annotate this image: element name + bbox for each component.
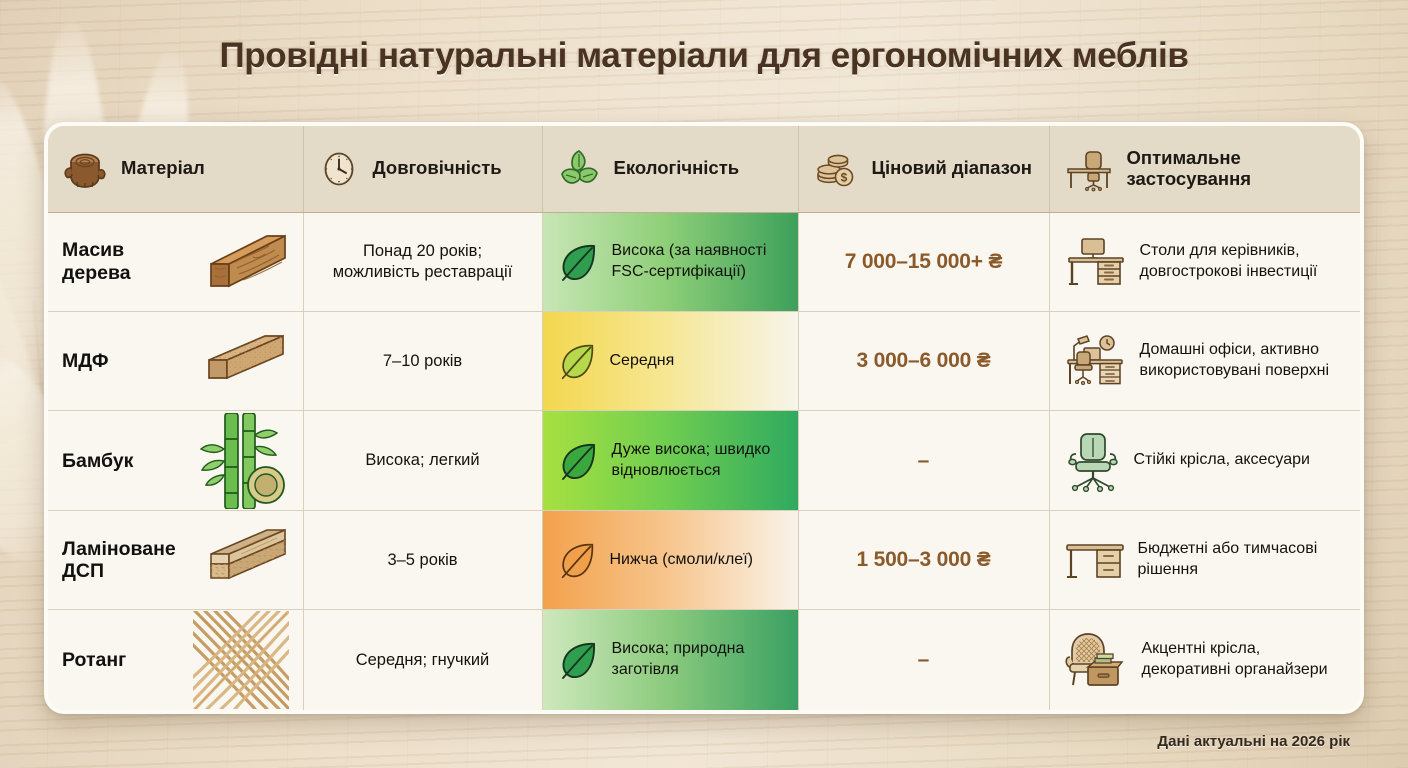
column-header-eco: Екологічність: [542, 126, 798, 212]
cell-material: Ламіноване ДСП: [48, 510, 303, 609]
application-text: Акцентні крісла, декоративні органайзери: [1142, 639, 1347, 681]
column-header-label: Екологічність: [614, 158, 740, 179]
clock-icon: [318, 148, 360, 190]
durability-text: Середня; гнучкий: [318, 650, 528, 671]
cell-application: Столи для керівників, довгострокові інве…: [1049, 212, 1360, 311]
home-office-icon: [1064, 332, 1128, 390]
material-name: Масив дерева: [62, 239, 171, 284]
rattan-weave-icon: [193, 611, 289, 709]
application-text: Домашні офіси, активно використовувані п…: [1140, 340, 1347, 382]
tree-stump-icon: [62, 146, 108, 192]
cell-price: 7 000–15 000+ ₴: [798, 212, 1049, 311]
price-text: –: [813, 449, 1035, 473]
cell-durability: 7–10 років: [303, 311, 542, 410]
cell-price: –: [798, 610, 1049, 710]
application-text: Стійкі крісла, аксесуари: [1134, 450, 1310, 471]
cell-material: Масив дерева: [48, 212, 303, 311]
bamboo-icon: [191, 413, 289, 509]
material-name: Бамбук: [62, 450, 133, 472]
desk-chair-icon: [1064, 146, 1114, 192]
coins-icon: $: [813, 146, 859, 192]
cell-material: Бамбук: [48, 411, 303, 510]
column-header-application: Оптимальне застосування: [1049, 126, 1360, 212]
durability-text: Понад 20 років; можливість реставрації: [318, 241, 528, 283]
eco-text: Дуже висока; швидко відновлюється: [612, 440, 788, 482]
cell-material: Ротанг: [48, 610, 303, 710]
column-header-price: $ Ціновий діапазон: [798, 126, 1049, 212]
cell-application: Акцентні крісла, декоративні органайзери: [1049, 610, 1360, 710]
executive-desk-icon: [1064, 234, 1128, 290]
column-header-label: Матеріал: [121, 158, 205, 179]
cell-eco: Дуже висока; швидко відновлюється: [542, 411, 798, 510]
table-body: Масив дерева: [48, 212, 1360, 710]
leaf-icon: [555, 538, 599, 582]
material-name: Ламіноване ДСП: [62, 538, 177, 583]
table-row: МДФ: [48, 311, 1360, 410]
table-row: Ламіноване ДСП: [48, 510, 1360, 609]
cell-price: 3 000–6 000 ₴: [798, 311, 1049, 410]
cell-eco: Висока; природна заготівля: [542, 610, 798, 710]
eco-text: Середня: [610, 351, 675, 372]
leaf-icon: [555, 339, 599, 383]
material-name: МДФ: [62, 350, 109, 372]
mdf-board-icon: [179, 326, 289, 396]
column-header-label: Ціновий діапазон: [872, 158, 1032, 179]
price-text: 7 000–15 000+ ₴: [813, 250, 1035, 274]
recycle-leaves-icon: [557, 147, 601, 191]
column-header-durability: Довговічність: [303, 126, 542, 212]
solid-wood-plank-icon: [179, 224, 289, 300]
table-row: Ротанг: [48, 610, 1360, 710]
table-row: Бамбук: [48, 411, 1360, 510]
column-header-material: Матеріал: [48, 126, 303, 212]
cell-application: Стійкі крісла, аксесуари: [1049, 411, 1360, 510]
column-header-label: Оптимальне застосування: [1127, 148, 1347, 189]
page-title: Провідні натуральні матеріали для ергоно…: [0, 36, 1408, 76]
cell-price: 1 500–3 000 ₴: [798, 510, 1049, 609]
table-row: Масив дерева: [48, 212, 1360, 311]
materials-table: Матеріал: [48, 126, 1360, 710]
cell-eco: Нижча (смоли/клеї): [542, 510, 798, 609]
data-validity-note: Дані актуальні на 2026 рік: [1157, 733, 1350, 750]
price-text: –: [813, 648, 1035, 672]
eco-text: Висока (за наявності FSC-сертифікації): [612, 241, 788, 283]
application-text: Бюджетні або тимчасові рішення: [1138, 539, 1347, 581]
simple-desk-icon: [1064, 537, 1126, 583]
cell-durability: Середня; гнучкий: [303, 610, 542, 710]
leaf-icon: [555, 438, 601, 484]
cell-durability: 3–5 років: [303, 510, 542, 609]
header-row: Матеріал: [48, 126, 1360, 212]
material-name: Ротанг: [62, 649, 126, 671]
eco-text: Нижча (смоли/клеї): [610, 550, 753, 571]
eco-text: Висока; природна заготівля: [612, 639, 788, 681]
materials-table-card: Матеріал: [44, 122, 1364, 714]
application-text: Столи для керівників, довгострокові інве…: [1140, 241, 1347, 283]
table-header: Матеріал: [48, 126, 1360, 212]
cell-eco: Висока (за наявності FSC-сертифікації): [542, 212, 798, 311]
cell-durability: Понад 20 років; можливість реставрації: [303, 212, 542, 311]
column-header-label: Довговічність: [373, 158, 502, 179]
laminated-chipboard-icon: [185, 524, 289, 596]
cell-durability: Висока; легкий: [303, 411, 542, 510]
cell-application: Бюджетні або тимчасові рішення: [1049, 510, 1360, 609]
leaf-icon: [555, 637, 601, 683]
cell-price: –: [798, 411, 1049, 510]
price-text: 1 500–3 000 ₴: [813, 548, 1035, 572]
rattan-chair-box-icon: [1064, 631, 1130, 689]
price-text: 3 000–6 000 ₴: [813, 349, 1035, 373]
leaf-icon: [555, 239, 601, 285]
durability-text: 7–10 років: [318, 351, 528, 372]
durability-text: Висока; легкий: [318, 450, 528, 471]
cell-eco: Середня: [542, 311, 798, 410]
durability-text: 3–5 років: [318, 550, 528, 571]
cell-material: МДФ: [48, 311, 303, 410]
cell-application: Домашні офіси, активно використовувані п…: [1049, 311, 1360, 410]
svg-text:$: $: [840, 170, 847, 184]
office-chair-icon: [1064, 430, 1122, 492]
